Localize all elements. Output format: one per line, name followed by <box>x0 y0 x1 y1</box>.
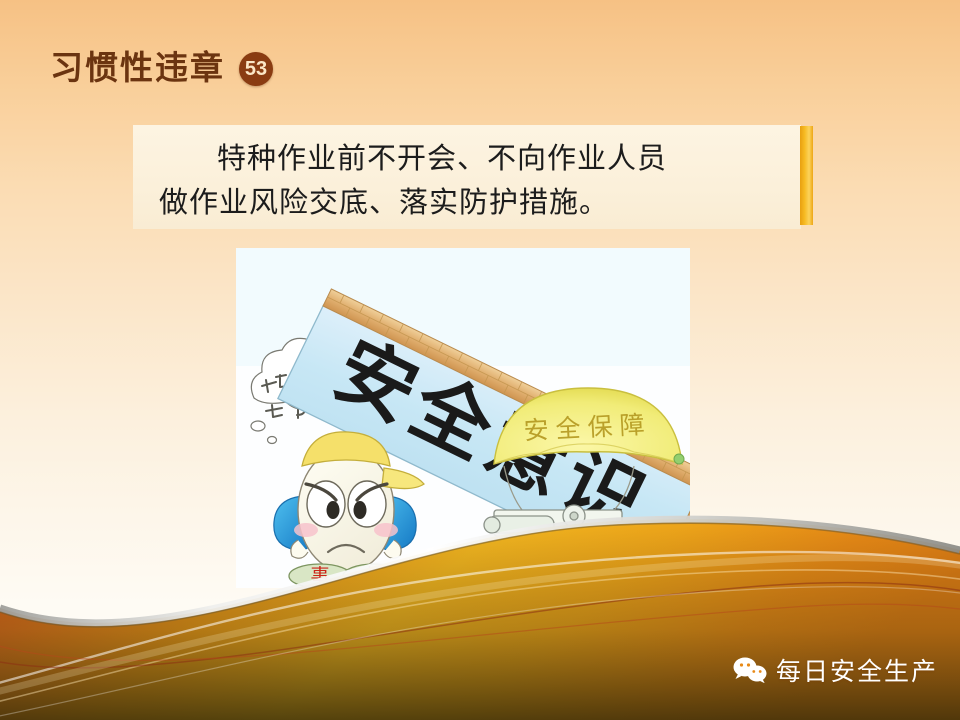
accent-bar <box>800 126 813 225</box>
content-line-2: 做作业风险交底、落实防护措施。 <box>159 181 775 225</box>
page-title: 习惯性违章 <box>50 53 225 86</box>
status-badge: 53 <box>239 52 273 86</box>
slide-canvas: 习惯性违章 53 特种作业前不开会、不向作业人员 做作业风险交底、落实防护措施。 <box>0 0 960 720</box>
wechat-icon <box>733 657 767 688</box>
watermark-label: 每日安全生产 <box>776 660 938 685</box>
watermark: 每日安全生产 <box>733 657 938 688</box>
slide-title-row: 习惯性违章 53 <box>50 44 273 94</box>
content-line-1: 特种作业前不开会、不向作业人员 <box>159 137 775 181</box>
content-card: 特种作业前不开会、不向作业人员 做作业风险交底、落实防护措施。 <box>133 125 801 229</box>
